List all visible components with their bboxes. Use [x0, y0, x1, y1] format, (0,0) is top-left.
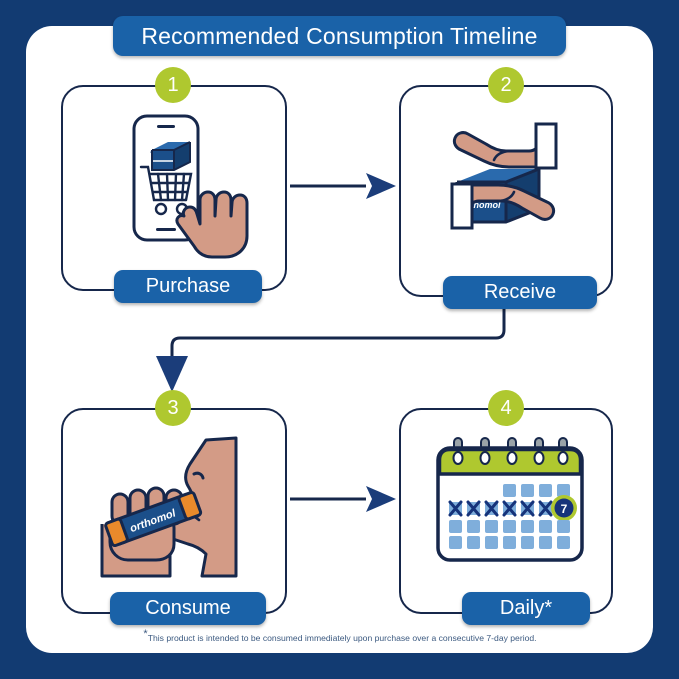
step-badge-2-number: 2: [500, 75, 511, 96]
step-badge-4: 4: [488, 390, 524, 426]
step-label-purchase-text: Purchase: [146, 275, 231, 298]
step-badge-1-number: 1: [167, 75, 178, 96]
step-badge-2: 2: [488, 67, 524, 103]
page-title-text: Recommended Consumption Timeline: [141, 23, 537, 50]
hands-holding-box-icon: orthomol: [432, 118, 588, 258]
step-label-receive: Receive: [443, 276, 597, 309]
footnote: *This product is intended to be consumed…: [60, 628, 620, 643]
step-label-daily-text: Daily*: [500, 597, 552, 620]
step-badge-1: 1: [155, 67, 191, 103]
calendar-day-badge-label: 7: [561, 502, 568, 516]
step-badge-3-number: 3: [167, 398, 178, 419]
calendar-icon: 7: [428, 436, 592, 568]
step-label-daily: Daily*: [462, 592, 590, 625]
step-label-purchase: Purchase: [114, 270, 262, 303]
infographic-root: Recommended Consumption Timeline: [0, 0, 679, 679]
step-badge-3: 3: [155, 390, 191, 426]
step-label-consume: Consume: [110, 592, 266, 625]
hand-drinking-vial-icon: orthomol: [96, 432, 276, 582]
page-title: Recommended Consumption Timeline: [113, 16, 566, 56]
footnote-text: This product is intended to be consumed …: [148, 633, 537, 643]
step-label-consume-text: Consume: [145, 597, 231, 620]
step-badge-4-number: 4: [500, 398, 511, 419]
smartphone-cart-hand-icon: [112, 112, 262, 262]
step-label-receive-text: Receive: [484, 281, 556, 304]
